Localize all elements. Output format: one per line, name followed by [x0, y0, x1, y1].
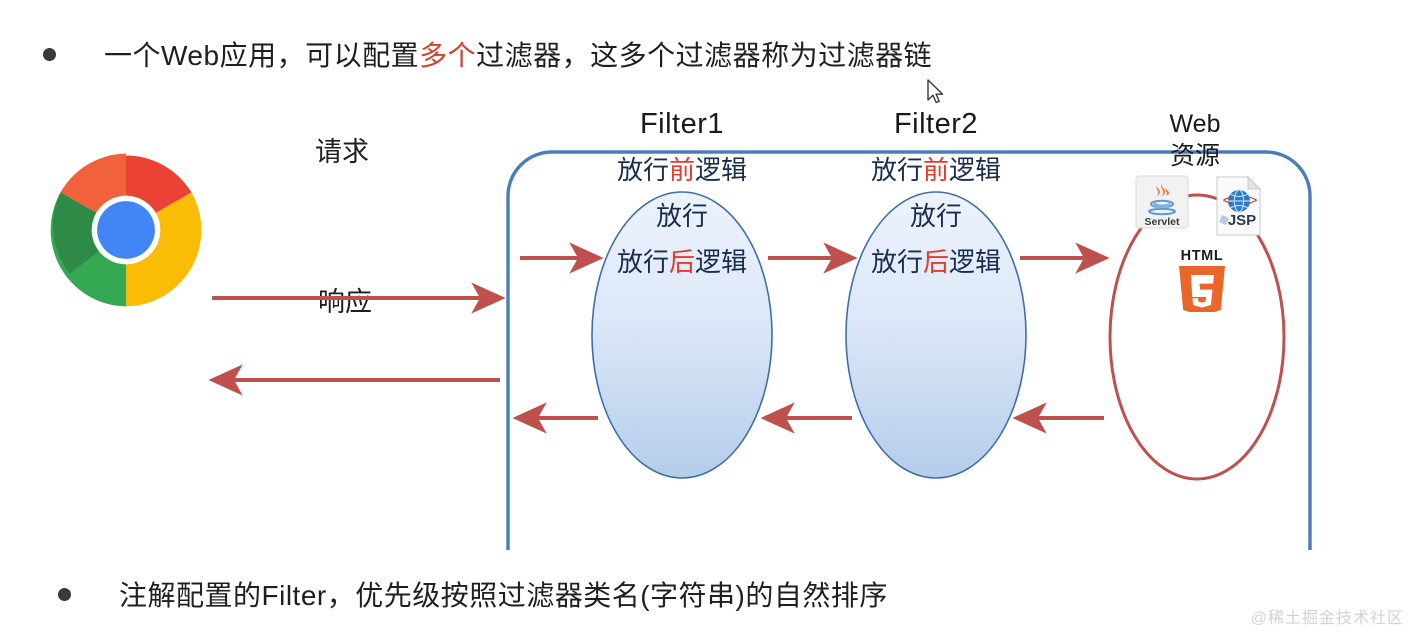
servlet-icon-label: Servlet: [1144, 216, 1180, 228]
bullet-annotation-order: 注解配置的Filter，优先级按照过滤器类名(字符串)的自然排序: [58, 574, 888, 614]
filter1-shape: [592, 192, 772, 478]
svg-text:>: >: [1249, 192, 1258, 209]
bullet-text-segment: 注解配置的Filter，优先级按照过滤器类名(字符串)的自然排序: [119, 580, 888, 611]
watermark: @稀土掘金技术社区: [1251, 604, 1404, 628]
bullet-text-highlight: 多个: [419, 40, 476, 71]
html5-icon-label: HTML: [1181, 248, 1224, 264]
svg-text:<: <: [1223, 192, 1232, 209]
web-resource-title-line2: 资源: [1130, 140, 1260, 172]
mouse-cursor-icon: [926, 79, 946, 107]
bullet-text-segment: 过滤器，这多个过滤器称为过滤器链: [476, 40, 932, 71]
bullet-dot-icon: [43, 48, 56, 61]
jsp-icon: < > JSP: [1209, 175, 1267, 242]
html5-icon: HTML: [1171, 246, 1233, 317]
bullet-annotation-order-text: 注解配置的Filter，优先级按照过滤器类名(字符串)的自然排序: [119, 574, 888, 614]
bullet-filter-chain-text: 一个Web应用，可以配置多个过滤器，这多个过滤器称为过滤器链: [104, 34, 932, 74]
bullet-dot-icon: [58, 588, 71, 601]
web-resource-label-group: Web 资源: [1130, 108, 1260, 172]
filter2-shape: [846, 192, 1026, 478]
bullet-text-segment: 一个Web应用，可以配置: [104, 40, 419, 71]
bullet-filter-chain: 一个Web应用，可以配置多个过滤器，这多个过滤器称为过滤器链: [43, 34, 932, 74]
servlet-icon: Servlet: [1133, 175, 1191, 242]
web-resource-title-line1: Web: [1130, 108, 1260, 140]
web-resource-icon-group: Servlet < > JSP HTML: [1125, 175, 1275, 317]
jsp-icon-label: JSP: [1228, 212, 1256, 229]
